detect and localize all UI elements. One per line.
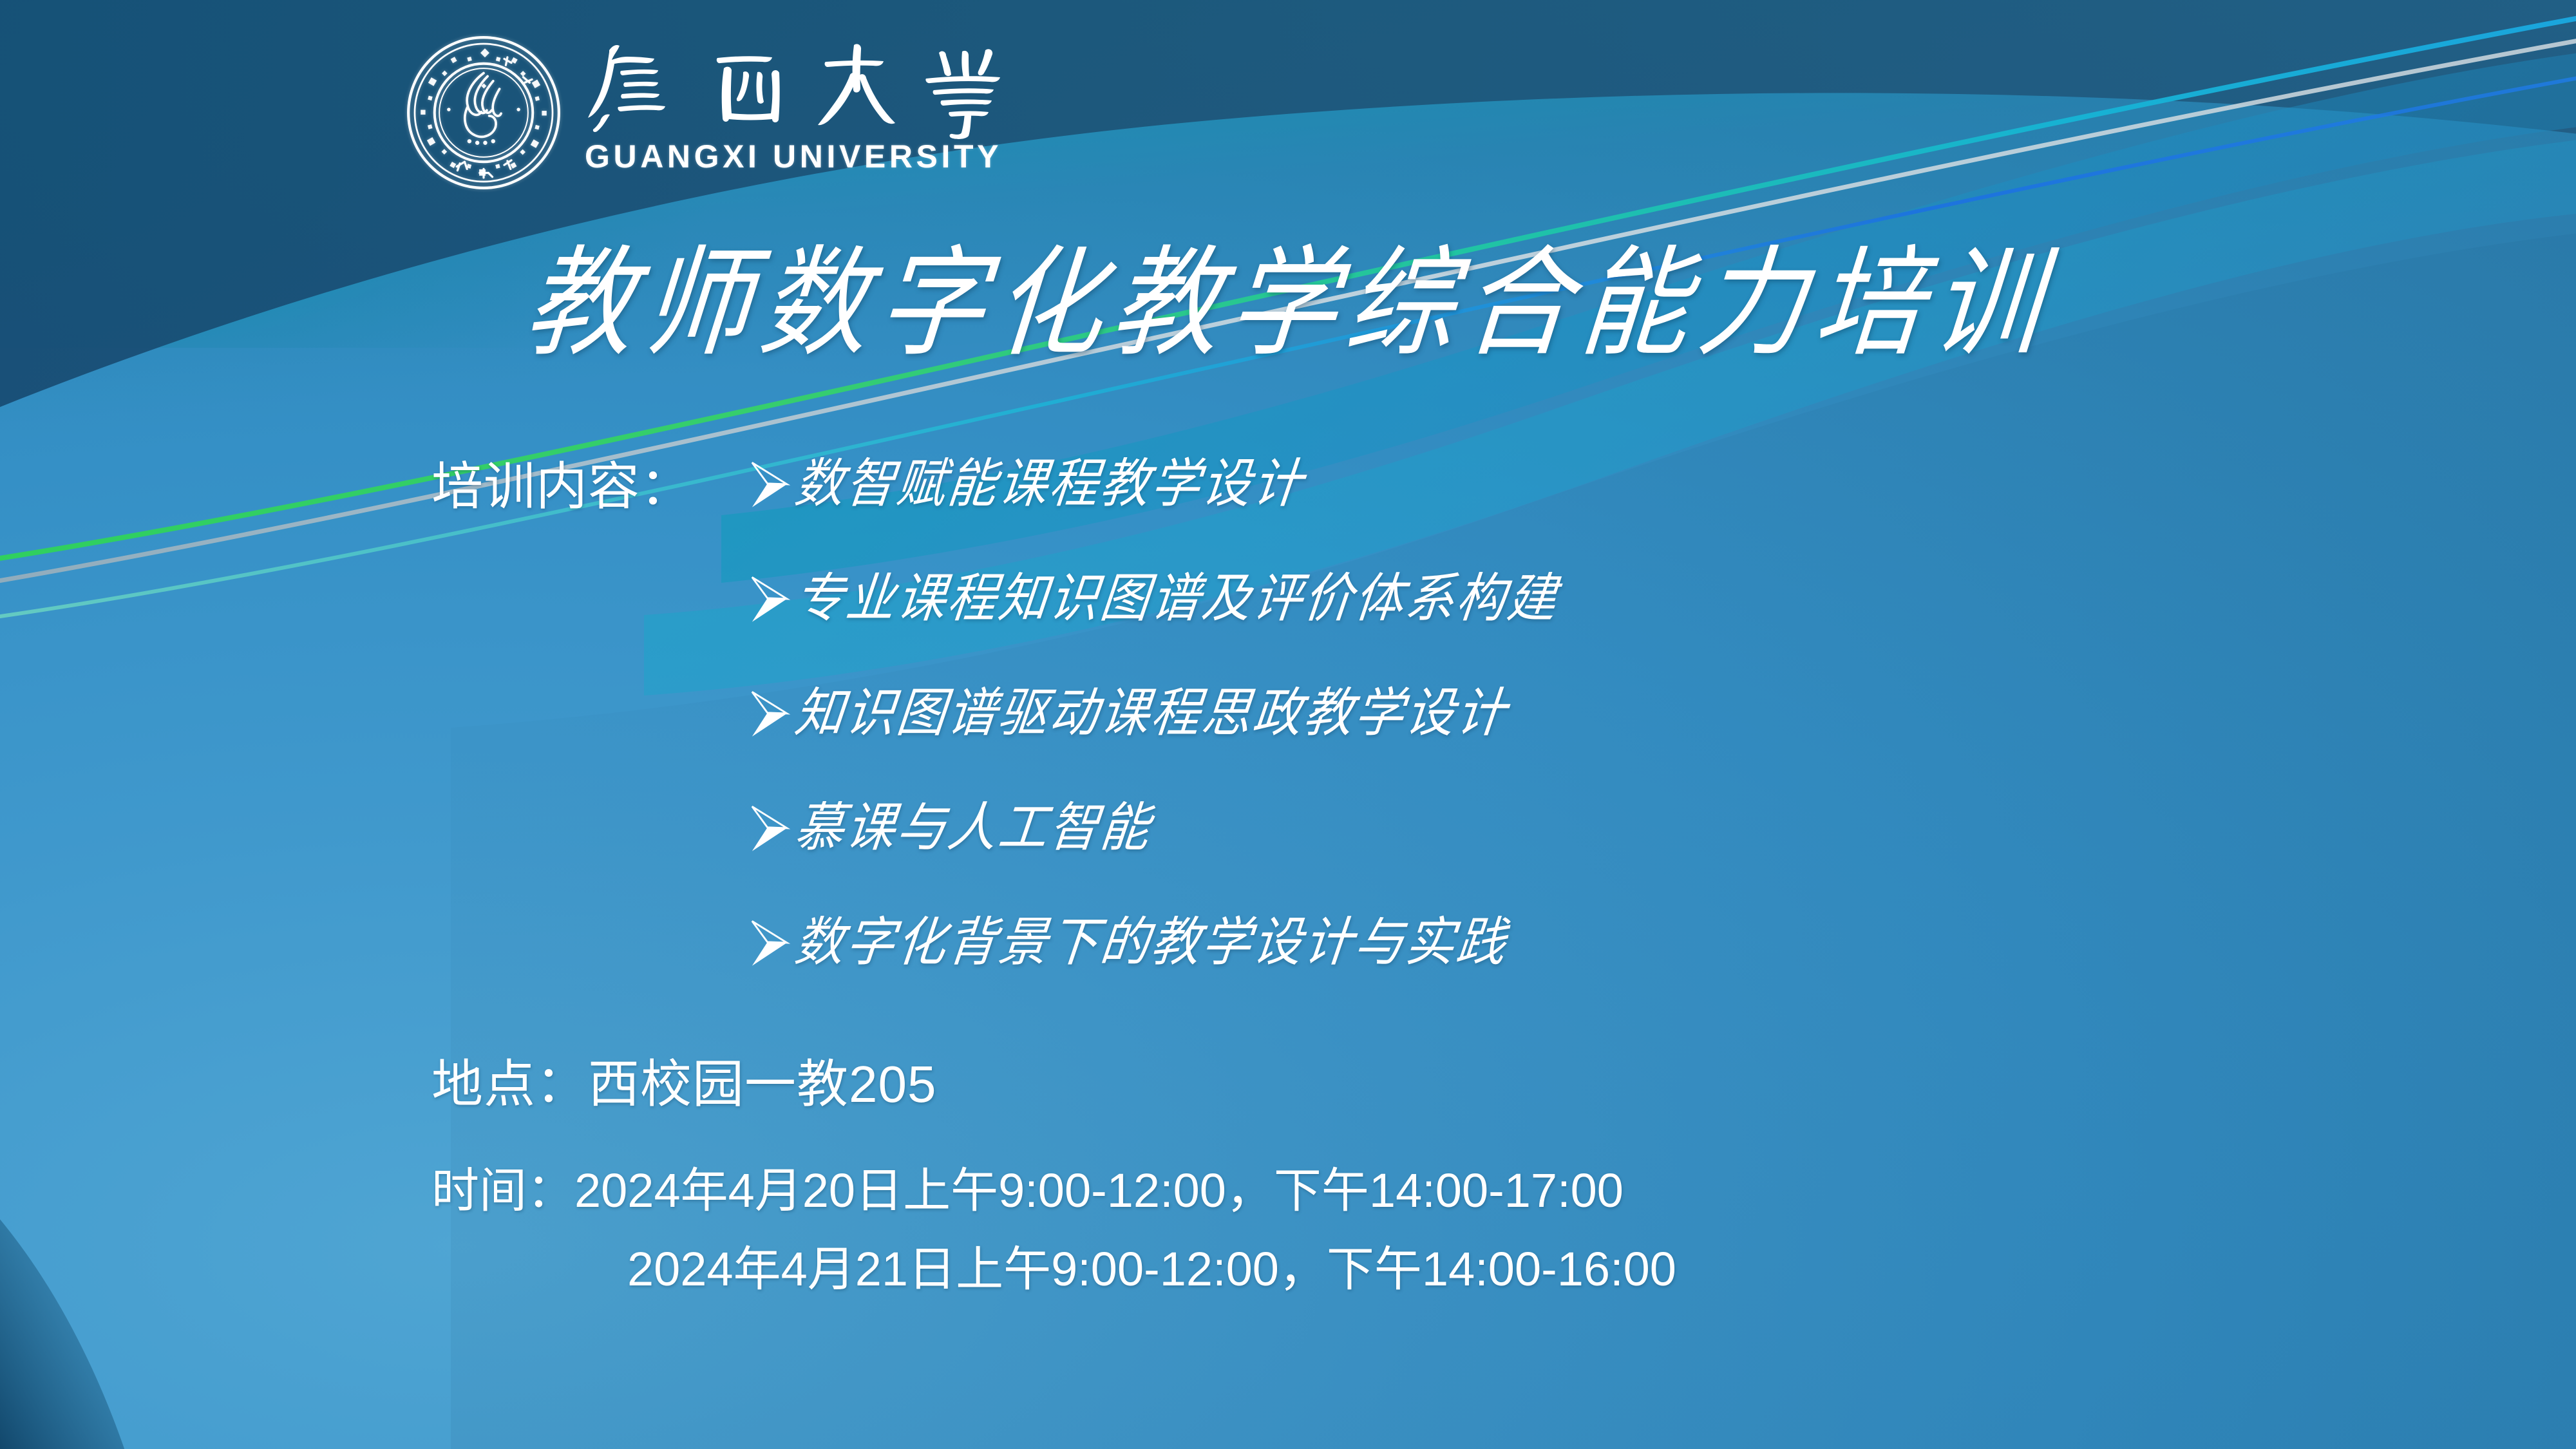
university-name-cn-calligraphy: 廣西大學: [581, 36, 1045, 139]
arrowhead-bullet-icon: [749, 918, 791, 969]
presentation-slide: 廣西大學: [0, 0, 2576, 1449]
training-topics-list: 数智赋能课程教学设计 专业课程知识图谱及评价体系构建 知识图谱驱动课程思政教学设…: [749, 457, 2363, 1030]
schedule-line-day1: 时间：2024年4月20日上午9:00-12:00，下午14:00-17:00: [431, 1167, 2363, 1215]
slide-content: 培训内容： 数智赋能课程教学设计 专业课程知识图谱及评价体系构建: [431, 457, 2363, 1293]
training-content-label: 培训内容：: [431, 457, 692, 513]
bottom-left-dark-wedge: [0, 1204, 129, 1449]
location-line: 地点：西校园一教205: [431, 1059, 2363, 1110]
list-item: 慕课与人工智能: [749, 801, 2363, 916]
list-item: 专业课程知识图谱及评价体系构建: [749, 572, 2363, 687]
list-item: 知识图谱驱动课程思政教学设计: [749, 687, 2363, 801]
list-item-label: 专业课程知识图谱及评价体系构建: [792, 572, 1561, 625]
list-item-label: 慕课与人工智能: [792, 801, 1154, 854]
list-item-label: 数字化背景下的教学设计与实践: [792, 916, 1510, 969]
schedule-line-day2: 2024年4月21日上午9:00-12:00，下午14:00-16:00: [627, 1245, 2363, 1293]
arrowhead-bullet-icon: [749, 460, 791, 510]
arrowhead-bullet-icon: [749, 804, 791, 854]
list-item-label: 知识图谱驱动课程思政教学设计: [792, 687, 1510, 739]
training-content-section: 培训内容： 数智赋能课程教学设计 专业课程知识图谱及评价体系构建: [431, 457, 2363, 1030]
list-item: 数字化背景下的教学设计与实践: [749, 916, 2363, 1030]
university-name-en: GUANGXI UNIVERSITY: [585, 140, 1045, 173]
guangxi-university-seal-icon: [404, 33, 563, 192]
university-logo: 廣西大學: [404, 33, 1045, 192]
page-title: 教师数字化教学综合能力培训: [0, 243, 2576, 364]
list-item-label: 数智赋能课程教学设计: [792, 457, 1307, 510]
seal-flame-motif: [465, 73, 501, 137]
arrowhead-bullet-icon: [749, 574, 791, 625]
logo-wordmark: 廣西大學: [581, 33, 1045, 173]
list-item: 数智赋能课程教学设计: [749, 457, 2363, 572]
arrowhead-bullet-icon: [749, 689, 791, 739]
